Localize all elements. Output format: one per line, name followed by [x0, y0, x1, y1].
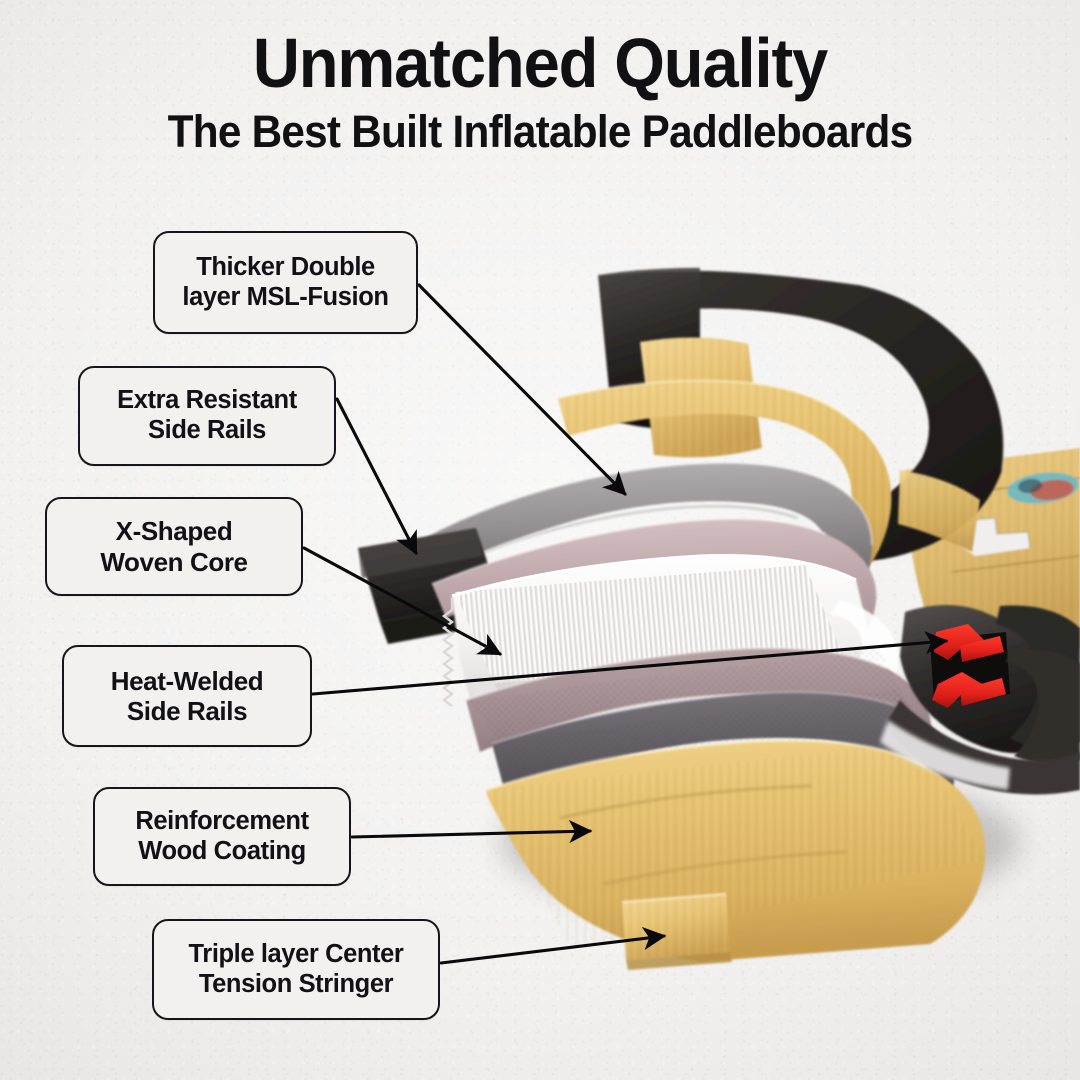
callout-line-1: Reinforcement	[135, 807, 308, 837]
callout-extra-resistant-side-rails[interactable]: Extra Resistant Side Rails	[78, 366, 336, 466]
leader-line-2	[337, 399, 416, 553]
callout-thicker-double-layer-msl-fusion[interactable]: Thicker Double layer MSL-Fusion	[153, 231, 418, 334]
header-block: Unmatched Quality The Best Built Inflata…	[0, 28, 1080, 156]
callout-line-2: layer MSL-Fusion	[182, 283, 388, 313]
callout-line-2: Tension Stringer	[199, 970, 393, 1000]
callout-x-shaped-woven-core[interactable]: X-Shaped Woven Core	[45, 497, 303, 596]
callout-line-1: Triple layer Center	[189, 940, 404, 970]
page-title: Unmatched Quality	[38, 28, 1042, 99]
infographic-canvas: Unmatched Quality The Best Built Inflata…	[0, 0, 1080, 1080]
callout-line-2: Wood Coating	[138, 837, 306, 867]
callout-line-2: Woven Core	[100, 547, 247, 577]
callout-reinforcement-wood-coating[interactable]: Reinforcement Wood Coating	[93, 787, 351, 886]
page-subtitle: The Best Built Inflatable Paddleboards	[32, 109, 1047, 156]
callout-line-2: Side Rails	[127, 696, 247, 726]
callout-line-1: X-Shaped	[116, 516, 233, 546]
leader-line-3	[304, 548, 500, 654]
callout-heat-welded-side-rails[interactable]: Heat-Welded Side Rails	[62, 645, 312, 747]
callout-line-1: Heat-Welded	[111, 666, 264, 696]
callout-triple-layer-center-tension-stringer[interactable]: Triple layer Center Tension Stringer	[152, 919, 440, 1020]
leader-line-5	[352, 831, 590, 837]
leader-line-6	[441, 936, 664, 963]
callout-line-1: Thicker Double	[196, 253, 375, 283]
callout-line-1: Extra Resistant	[117, 386, 297, 416]
leader-line-1	[419, 285, 625, 494]
leader-line-4	[313, 641, 946, 694]
callout-line-2: Side Rails	[148, 416, 266, 446]
